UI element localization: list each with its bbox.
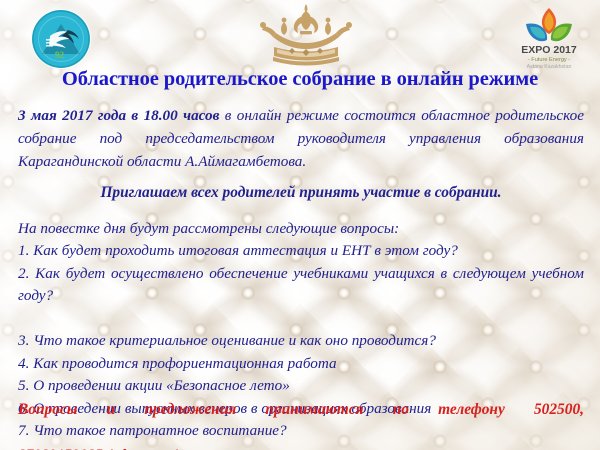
list-item: 2. Как будет осуществлено обеспечение уч…	[18, 263, 584, 331]
invitation-line: Приглашаем всех родителей принять участи…	[18, 184, 584, 202]
list-item: 5. О проведении акции «Безопасное лето»	[18, 375, 584, 398]
meeting-datetime: 3 мая 2017 года в 18.00 часов	[18, 107, 219, 124]
page-title: Областное родительское собрание в онлайн…	[0, 68, 600, 91]
contact-phone-line: Вопросы и предложения принимаются по тел…	[18, 398, 584, 444]
lead-paragraph: 3 мая 2017 года в 18.00 часов в онлайн р…	[18, 104, 584, 173]
list-item: 3. Что такое критериальное оценивание и …	[18, 330, 584, 353]
poster-content: Областное родительское собрание в онлайн…	[0, 0, 600, 450]
list-item: 4. Как проводится профориентационная раб…	[18, 353, 584, 376]
poster-canvas: 92	[0, 0, 600, 450]
agenda-intro: На повестке дня будут рассмотрены следую…	[18, 220, 584, 238]
contact-whatsapp-line: 87089159085 (whats app)	[18, 444, 584, 450]
list-item: 1. Как будет проходить итоговая аттестац…	[18, 240, 584, 263]
contact-info: Вопросы и предложения принимаются по тел…	[18, 398, 584, 450]
